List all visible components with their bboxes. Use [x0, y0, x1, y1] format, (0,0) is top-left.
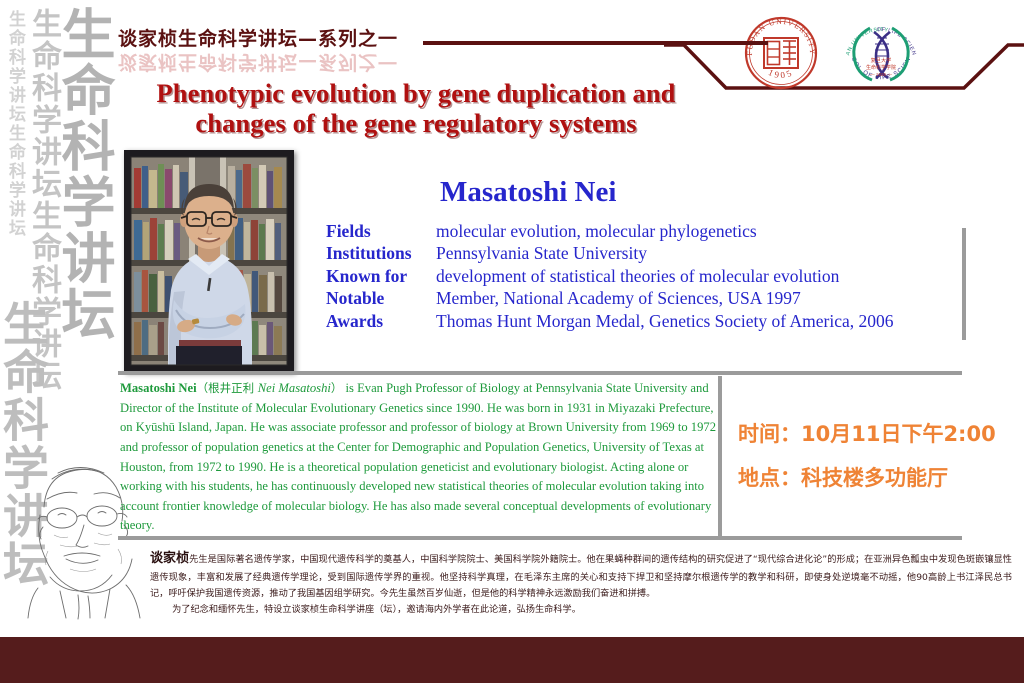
event-place: 地点：科技楼多功能厅 — [738, 462, 948, 492]
watermark-text-large: 生命科学讲坛 — [56, 6, 110, 342]
info-row-known-for: Known for development of statistical the… — [326, 265, 986, 287]
info-row-awards: Awards Thomas Hunt Morgan Medal, Genetic… — [326, 310, 986, 332]
bio-name: Masatoshi Nei — [120, 381, 197, 395]
series-header: 谈家桢生命科学讲坛—系列之一 谈家桢生命科学讲坛—系列之一 — [118, 30, 738, 72]
event-time-label: 时间： — [738, 422, 801, 446]
bio-close-paren: ） — [331, 381, 343, 395]
divider-vertical-right — [962, 228, 966, 340]
event-time-value: 10月11日下午2:00 — [801, 422, 996, 446]
fudan-university-logo: FUDAN UNIVERSITY 1905 — [742, 14, 820, 97]
info-value-fields: molecular evolution, molecular phylogene… — [436, 220, 986, 242]
info-key-fields: Fields — [326, 220, 436, 242]
info-row-fields: Fields molecular evolution, molecular ph… — [326, 220, 986, 242]
lecture-poster: 生命科学讲坛 生命科学讲坛生命科学讲坛 生命科学讲坛生命科学讲坛 生命科学讲坛 — [0, 0, 1024, 683]
speaker-name: Masatoshi Nei — [330, 176, 1024, 209]
svg-text:— 1926 —: — 1926 — — [870, 72, 892, 77]
info-row-institutions: Institutions Pennsylvania State Universi… — [326, 242, 986, 264]
info-value-known-for: development of statistical theories of m… — [436, 265, 986, 287]
intro-lead-name: 谈家桢 — [150, 551, 189, 566]
event-time: 时间：10月11日下午2:00 — [738, 418, 996, 448]
info-value-notable: Member, National Academy of Sciences, US… — [436, 287, 986, 309]
title-line-2: changes of the gene regulatory systems — [118, 109, 714, 139]
info-key-awards: Awards — [326, 310, 436, 332]
info-key-institutions: Institutions — [326, 242, 436, 264]
event-place-value: 科技楼多功能厅 — [801, 466, 948, 490]
bio-japanese-name: （根井正利 — [197, 381, 258, 395]
info-row-notable: Notable Member, National Academy of Scie… — [326, 287, 986, 309]
watermark-text-small: 生命科学讲坛生命科学讲坛 — [6, 10, 23, 238]
svg-text:生命科学学院: 生命科学学院 — [866, 64, 896, 71]
footer-band — [0, 637, 1024, 683]
svg-text:复旦大学: 复旦大学 — [871, 56, 892, 64]
series-rule — [423, 41, 768, 45]
page-title: Phenotypic evolution by gene duplication… — [118, 79, 714, 138]
intro-paragraph-2: 为了纪念和缅怀先生，特设立谈家桢生命科学讲座（坛），邀请海内外学者在此论道，弘扬… — [150, 602, 1012, 618]
tan-jiazhen-introduction: 谈家桢先生是国际著名遗传学家，中国现代遗传科学的奠基人，中国科学院院士、美国科学… — [150, 548, 1012, 618]
svg-text:1905: 1905 — [767, 67, 795, 80]
series-title: 谈家桢生命科学讲坛—系列之一 — [118, 30, 398, 49]
series-title-reflection: 谈家桢生命科学讲坛—系列之一 — [118, 52, 398, 71]
bio-text: is Evan Pugh Professor of Biology at Pen… — [120, 381, 716, 532]
bio-romaji: Nei Masatoshi — [258, 381, 331, 395]
intro-paragraph-1: 谈家桢先生是国际著名遗传学家，中国现代遗传科学的奠基人，中国科学院院士、美国科学… — [150, 548, 1012, 602]
info-value-institutions: Pennsylvania State University — [436, 242, 986, 264]
school-of-life-sciences-logo: FUDAN UNIVERSITY OF LIFE SCIENCES SCHOOL… — [840, 14, 922, 99]
divider-horizontal-top — [118, 371, 962, 375]
intro-paragraph-1-text: 先生是国际著名遗传学家，中国现代遗传科学的奠基人，中国科学院院士、美国科学院外籍… — [150, 554, 1012, 599]
speaker-info-table: Fields molecular evolution, molecular ph… — [326, 220, 986, 332]
event-place-label: 地点： — [738, 466, 801, 490]
info-key-notable: Notable — [326, 287, 436, 309]
title-line-1: Phenotypic evolution by gene duplication… — [118, 79, 714, 109]
divider-horizontal-bottom — [118, 536, 962, 540]
divider-vertical-mid — [718, 376, 722, 536]
biography-paragraph: Masatoshi Nei（根井正利 Nei Masatoshi） is Eva… — [120, 379, 716, 536]
logo-group: FUDAN UNIVERSITY 1905 — [742, 14, 932, 90]
info-value-awards: Thomas Hunt Morgan Medal, Genetics Socie… — [436, 310, 986, 332]
info-key-known-for: Known for — [326, 265, 436, 287]
speaker-photo — [124, 150, 294, 372]
svg-text:FUDAN UNIVERSITY: FUDAN UNIVERSITY — [745, 17, 817, 56]
